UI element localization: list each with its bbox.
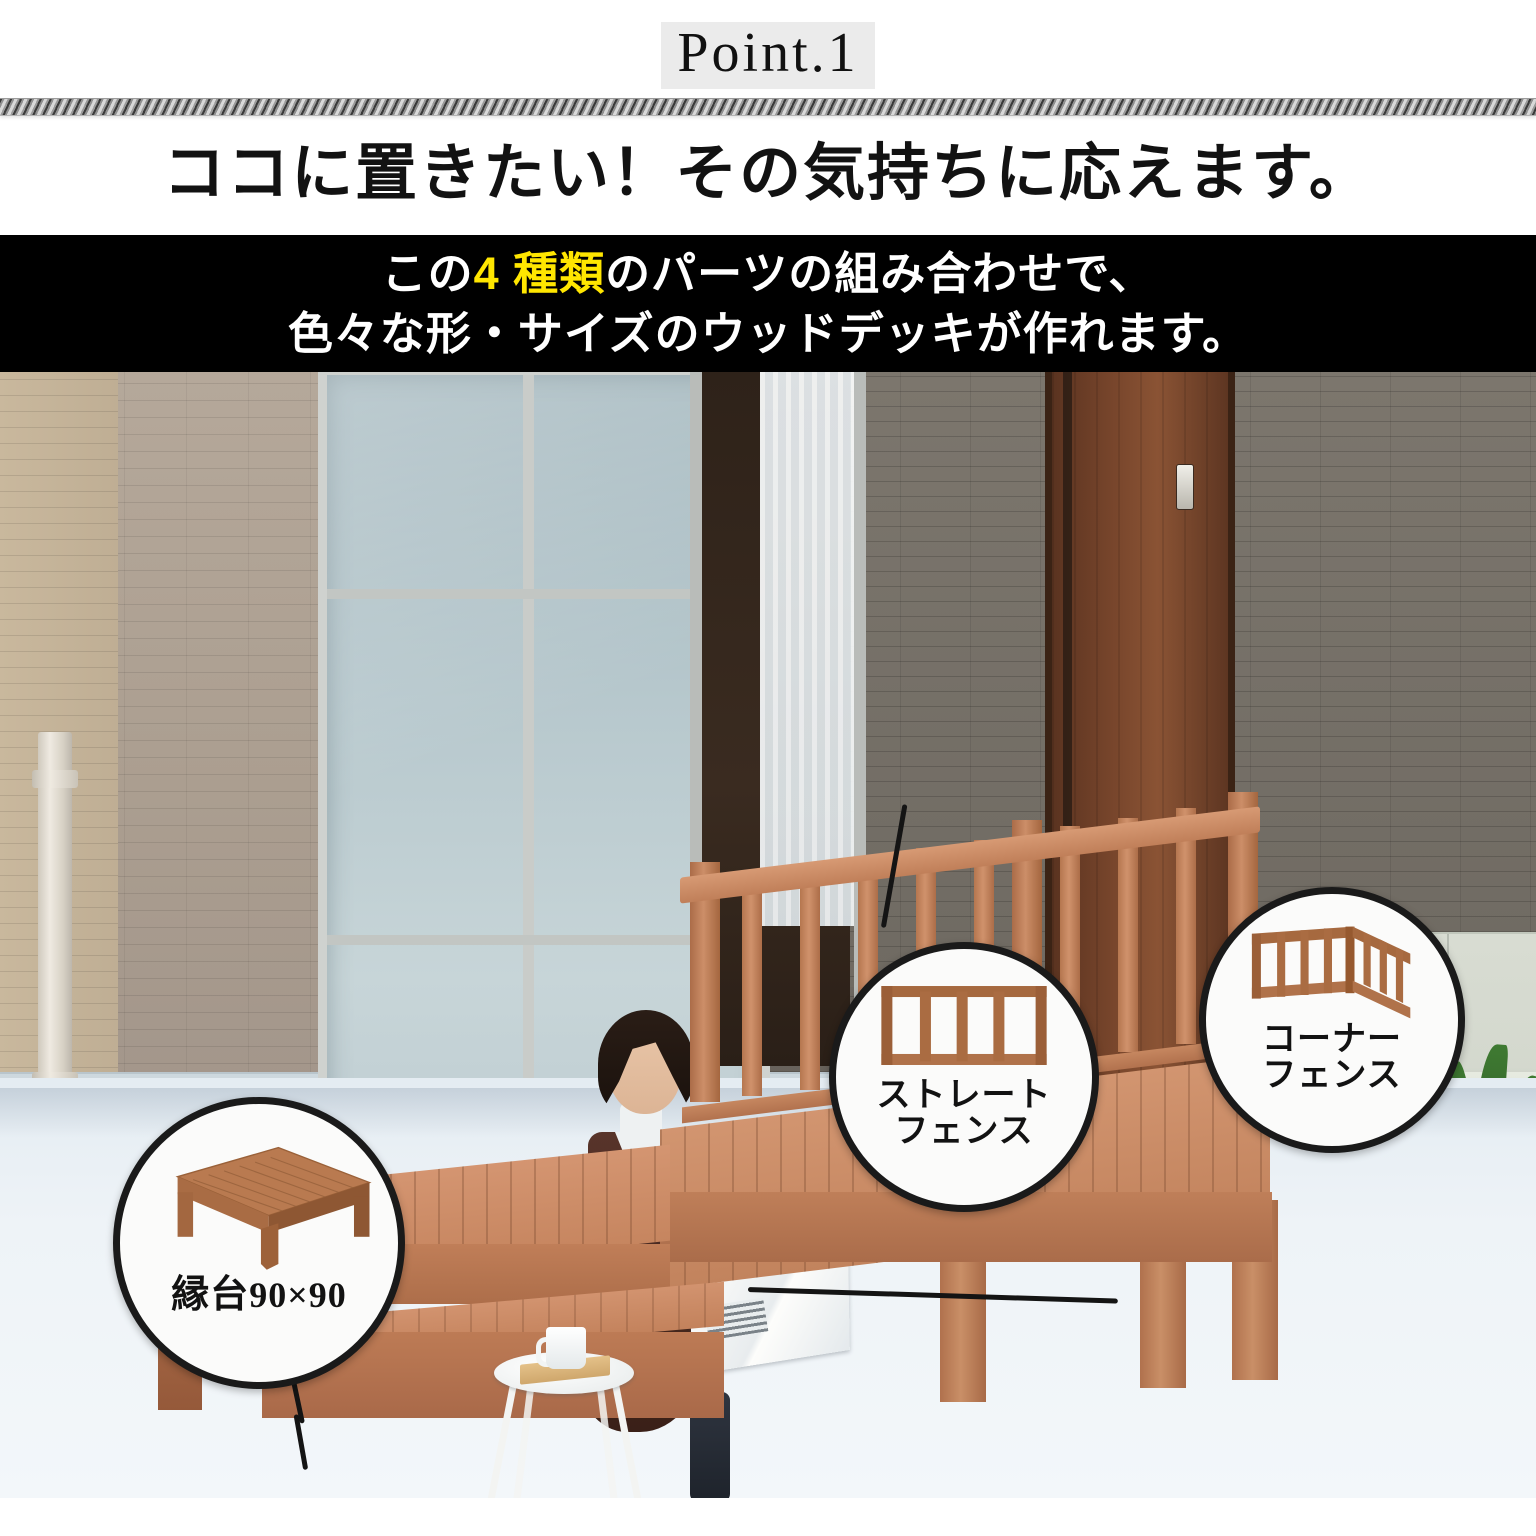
straight-fence-icon bbox=[836, 949, 1092, 1076]
callout-straight-line2: フェンス bbox=[877, 1114, 1052, 1150]
product-scene-photo: 縁台90×90 ストレート フェンス bbox=[0, 372, 1536, 1498]
callout-endai-dimension: 90×90 bbox=[249, 1275, 347, 1315]
point-badge: Point.1 bbox=[0, 22, 1536, 89]
banner-text-before: この bbox=[382, 248, 474, 299]
banner-text-after: のパーツの組み合わせで、 bbox=[605, 248, 1154, 299]
wood-platform-icon bbox=[120, 1104, 398, 1272]
callout-straight-fence[interactable]: ストレート フェンス bbox=[829, 942, 1099, 1212]
callout-corner-line2: フェンス bbox=[1262, 1058, 1402, 1094]
coffee-cup bbox=[546, 1327, 586, 1369]
table-leg bbox=[484, 1373, 519, 1498]
callout-corner-fence-label: コーナー フェンス bbox=[1262, 1022, 1402, 1093]
callout-corner-fence[interactable]: コーナー フェンス bbox=[1199, 887, 1465, 1153]
point-label: Point.1 bbox=[661, 22, 874, 89]
corner-fence-icon bbox=[1206, 894, 1458, 1022]
callout-straight-line1: ストレート bbox=[877, 1078, 1052, 1114]
callout-endai[interactable]: 縁台90×90 bbox=[113, 1097, 405, 1389]
table-leg bbox=[512, 1380, 535, 1498]
callout-endai-main: 縁台 bbox=[171, 1274, 249, 1316]
banner-line-2: 色々な形・サイズのウッドデッキが作れます。 bbox=[288, 304, 1248, 363]
callout-endai-label: 縁台90×90 bbox=[171, 1276, 347, 1316]
page-header: Point.1 ココに置きたい！その気持ちに応えます。 bbox=[0, 0, 1536, 235]
feature-banner: この4 種類のパーツの組み合わせで、 色々な形・サイズのウッドデッキが作れます。 bbox=[0, 235, 1536, 372]
rope-divider bbox=[0, 98, 1536, 116]
callout-corner-line1: コーナー bbox=[1262, 1022, 1402, 1058]
page-title: ココに置きたい！その気持ちに応えます。 bbox=[0, 122, 1536, 212]
banner-highlight: 4 種類 bbox=[474, 248, 606, 299]
callout-straight-fence-label: ストレート フェンス bbox=[877, 1078, 1052, 1149]
banner-line-1: この4 種類のパーツの組み合わせで、 bbox=[382, 244, 1155, 303]
product-feature-page: Point.1 ココに置きたい！その気持ちに応えます。 この4 種類のパーツの組… bbox=[0, 0, 1536, 1536]
